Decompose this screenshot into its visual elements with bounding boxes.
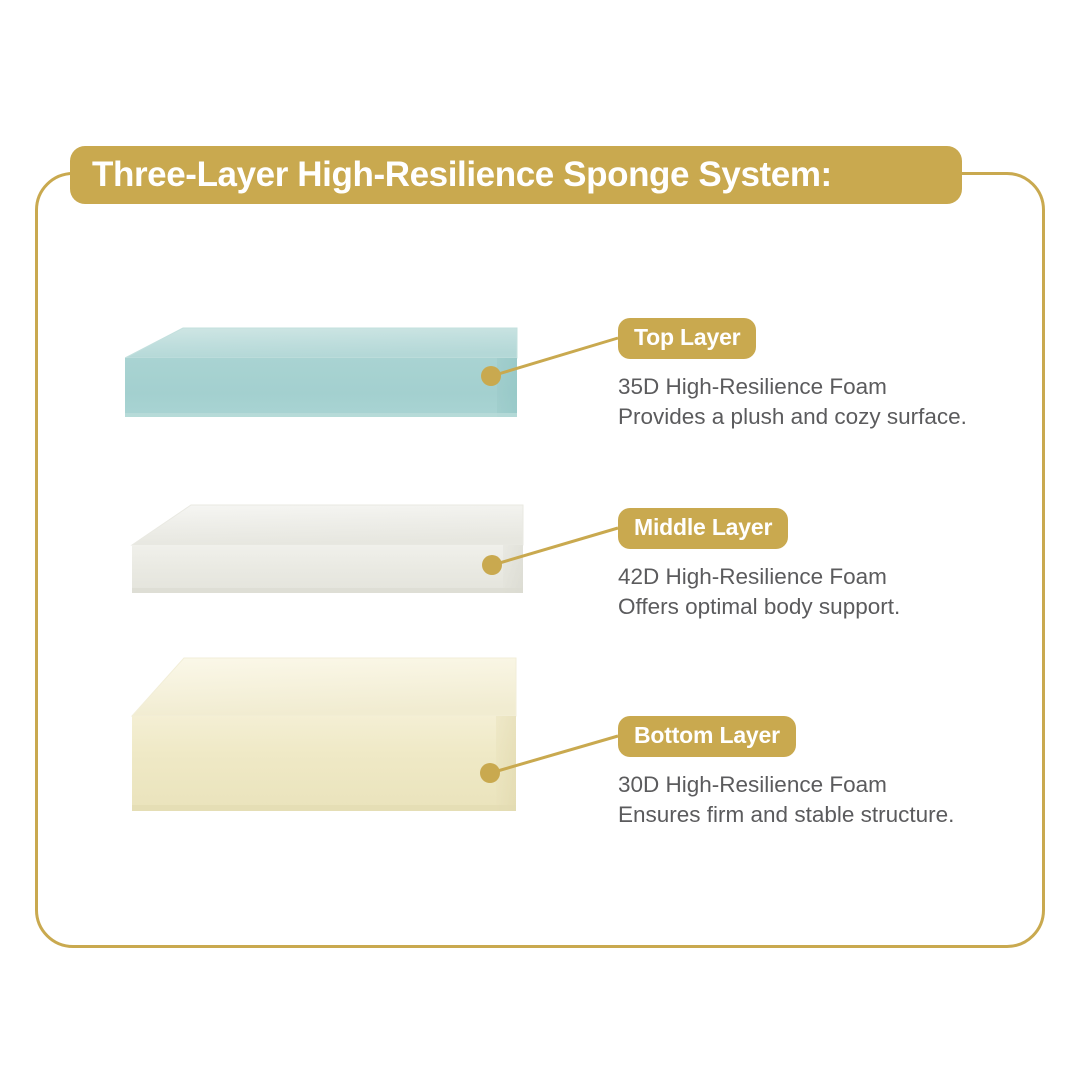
layer-badge-middle: Middle Layer: [618, 508, 788, 549]
layer-badge-bottom: Bottom Layer: [618, 716, 796, 757]
layer-benefit-top: Provides a plush and cozy surface.: [618, 402, 967, 432]
layer-spec-middle: 42D High-Resilience Foam: [618, 562, 900, 592]
layer-benefit-bottom: Ensures firm and stable structure.: [618, 800, 954, 830]
layer-spec-bottom: 30D High-Resilience Foam: [618, 770, 954, 800]
foam-slab-top: [125, 325, 525, 425]
layer-benefit-middle: Offers optimal body support.: [618, 592, 900, 622]
foam-slab-bottom: [118, 645, 538, 820]
page-title: Three-Layer High-Resilience Sponge Syste…: [92, 155, 832, 195]
infographic-canvas: of Three-Layer High-Resilience Sponge Sy…: [0, 0, 1080, 1080]
layer-description-middle: 42D High-Resilience Foam Offers optimal …: [618, 562, 900, 622]
layer-info-middle: Middle Layer 42D High-Resilience Foam Of…: [618, 508, 900, 622]
layer-description-top: 35D High-Resilience Foam Provides a plus…: [618, 372, 967, 432]
layer-badge-top: Top Layer: [618, 318, 756, 359]
layer-description-bottom: 30D High-Resilience Foam Ensures firm an…: [618, 770, 954, 830]
layer-info-top: Top Layer 35D High-Resilience Foam Provi…: [618, 318, 967, 432]
layer-info-bottom: Bottom Layer 30D High-Resilience Foam En…: [618, 716, 954, 830]
foam-slab-middle: [125, 495, 525, 601]
layer-spec-top: 35D High-Resilience Foam: [618, 372, 967, 402]
title-banner: Three-Layer High-Resilience Sponge Syste…: [70, 146, 962, 204]
